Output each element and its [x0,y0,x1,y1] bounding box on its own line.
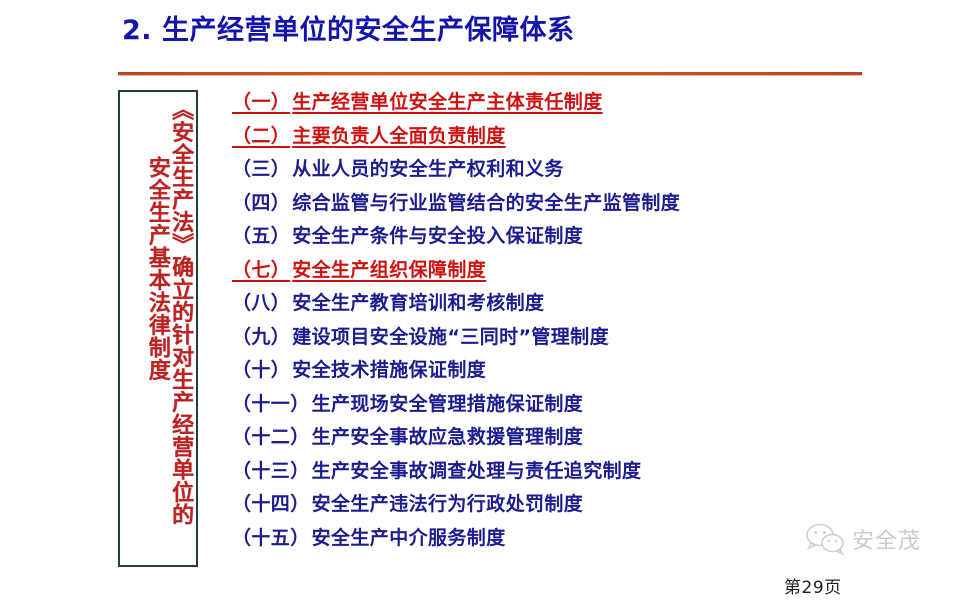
list-item-number: （二） [232,125,290,147]
list-item: （十一）生产现场安全管理措施保证制度 [232,388,872,422]
list-item-label: 安全技术措施保证制度 [292,359,486,381]
list-item-number: （十一） [232,393,310,415]
list-item-label: 生产经营单位安全生产主体责任制度 [292,91,602,113]
list-item-number: （四） [232,192,290,214]
list-item-label: 主要负责人全面负责制度 [292,125,505,147]
list-item: （九）建设项目安全设施“三同时”管理制度 [232,321,872,355]
list-item-label: 综合监管与行业监管结合的安全生产监管制度 [292,192,680,214]
list-item-label: 安全生产组织保障制度 [292,259,486,281]
list-item: （五）安全生产条件与安全投入保证制度 [232,220,872,254]
list-item-number: （九） [232,326,290,348]
list-item: （七）安全生产组织保障制度 [232,254,872,288]
list-item: （二）主要负责人全面负责制度 [232,120,872,154]
list-item-number: （五） [232,225,290,247]
list-item-number: （十二） [232,426,310,448]
list-item: （一）生产经营单位安全生产主体责任制度 [232,86,872,120]
list-item-label: 建设项目安全设施“三同时”管理制度 [292,326,609,348]
list-item-label: 从业人员的安全生产权利和义务 [292,158,564,180]
list-item-number: （十） [232,359,290,381]
list-item: （十三）生产安全事故调查处理与责任追究制度 [232,455,872,489]
list-item-number: （三） [232,158,290,180]
list-item: （三）从业人员的安全生产权利和义务 [232,153,872,187]
page-number-badge: 第29页 [778,569,960,601]
list-item: （八）安全生产教育培训和考核制度 [232,287,872,321]
page-number-label: 第29页 [784,573,842,598]
list-item-number: （八） [232,292,290,314]
vertical-caption-column-2: 安全生产基本法律制度 [145,156,168,381]
slide-canvas: 2. 生产经营单位的安全生产保障体系 《安全生产法》确立的针对生产经营单位的 安… [0,0,960,601]
list-item: （四）综合监管与行业监管结合的安全生产监管制度 [232,187,872,221]
vertical-caption-column-1: 《安全生产法》确立的针对生产经营单位的 [169,98,192,526]
list-item-label: 安全生产教育培训和考核制度 [292,292,544,314]
list-item-number: （十五） [232,527,310,549]
list-item-label: 安全生产条件与安全投入保证制度 [292,225,583,247]
list-item-label: 生产安全事故调查处理与责任追究制度 [312,460,642,482]
list-item-label: 生产安全事故应急救援管理制度 [312,426,584,448]
institution-list: （一）生产经营单位安全生产主体责任制度（二）主要负责人全面负责制度（三）从业人员… [232,86,872,555]
title-divider-highlight [118,75,862,76]
list-item: （十二）生产安全事故应急救援管理制度 [232,421,872,455]
list-item-number: （十四） [232,493,310,515]
vertical-caption-box: 《安全生产法》确立的针对生产经营单位的 安全生产基本法律制度 [118,90,198,567]
list-item-label: 生产现场安全管理措施保证制度 [312,393,584,415]
list-item-number: （十三） [232,460,310,482]
list-item: （十）安全技术措施保证制度 [232,354,872,388]
list-item: （十四）安全生产违法行为行政处罚制度 [232,488,872,522]
list-item-label: 安全生产中介服务制度 [312,527,506,549]
list-item-number: （一） [232,91,290,113]
list-item-number: （七） [232,259,290,281]
list-item: （十五）安全生产中介服务制度 [232,522,872,556]
list-item-label: 安全生产违法行为行政处罚制度 [312,493,584,515]
page-title: 2. 生产经营单位的安全生产保障体系 [122,14,574,48]
